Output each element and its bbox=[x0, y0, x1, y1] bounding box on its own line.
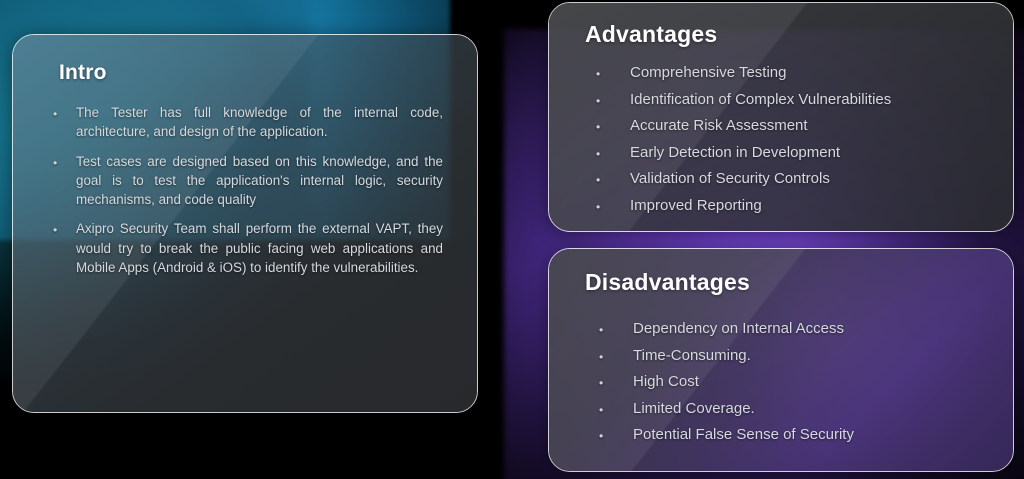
list-item: Validation of Security Controls bbox=[583, 170, 985, 188]
list-item: The Tester has full knowledge of the int… bbox=[45, 103, 443, 142]
list-item: Time-Consuming. bbox=[583, 347, 985, 365]
intro-card: Intro The Tester has full knowledge of t… bbox=[12, 34, 478, 413]
list-item: High Cost bbox=[583, 373, 985, 391]
list-item: Accurate Risk Assessment bbox=[583, 117, 985, 135]
disadvantages-bullet-list: Dependency on Internal Access Time-Consu… bbox=[583, 320, 985, 444]
list-item: Comprehensive Testing bbox=[583, 64, 985, 82]
list-item: Limited Coverage. bbox=[583, 400, 985, 418]
list-item: Potential False Sense of Security bbox=[583, 426, 985, 444]
advantages-card: Advantages Comprehensive Testing Identif… bbox=[548, 2, 1014, 232]
intro-card-title: Intro bbox=[45, 55, 443, 85]
disadvantages-card-body: Disadvantages Dependency on Internal Acc… bbox=[549, 249, 1013, 471]
disadvantages-card: Disadvantages Dependency on Internal Acc… bbox=[548, 248, 1014, 472]
list-item: Improved Reporting bbox=[583, 197, 985, 215]
slide-canvas: Intro The Tester has full knowledge of t… bbox=[0, 0, 1024, 479]
list-item: Test cases are designed based on this kn… bbox=[45, 152, 443, 210]
advantages-card-title: Advantages bbox=[583, 15, 985, 48]
list-item: Axipro Security Team shall perform the e… bbox=[45, 219, 443, 277]
advantages-bullet-list: Comprehensive Testing Identification of … bbox=[583, 64, 985, 215]
list-item: Early Detection in Development bbox=[583, 144, 985, 162]
list-item: Identification of Complex Vulnerabilitie… bbox=[583, 91, 985, 109]
list-item: Dependency on Internal Access bbox=[583, 320, 985, 338]
intro-card-body: Intro The Tester has full knowledge of t… bbox=[13, 35, 477, 412]
intro-bullet-list: The Tester has full knowledge of the int… bbox=[45, 103, 443, 277]
disadvantages-card-title: Disadvantages bbox=[583, 263, 985, 296]
advantages-card-body: Advantages Comprehensive Testing Identif… bbox=[549, 3, 1013, 231]
